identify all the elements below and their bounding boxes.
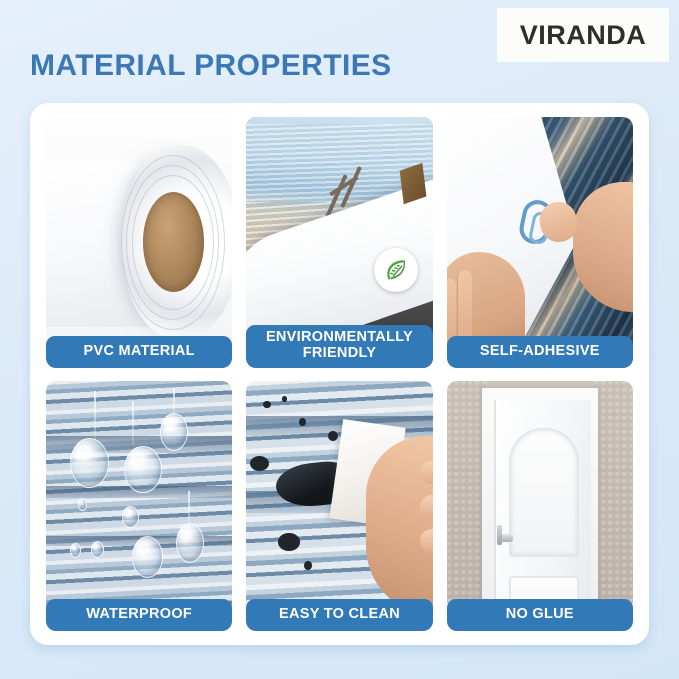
- knuckle: [420, 529, 432, 552]
- water-droplet: [78, 498, 87, 511]
- feature-label-waterproof: WATERPROOF: [46, 599, 232, 631]
- feature-label-line-1: ENVIRONMENTALLY: [250, 330, 428, 346]
- droplet-trail-2: [132, 401, 134, 446]
- water-droplet: [91, 541, 104, 559]
- self-adhesive-image: [447, 117, 633, 368]
- knuckle: [420, 495, 432, 518]
- white-door: [494, 400, 591, 631]
- water-droplet: [124, 446, 161, 494]
- door-frame: [482, 388, 598, 631]
- feature-label-pvc-material: PVC MATERIAL: [46, 336, 232, 368]
- stain-dot: [304, 561, 311, 570]
- water-droplet: [70, 543, 81, 558]
- wall-left: [447, 381, 486, 632]
- water-droplet: [176, 523, 204, 563]
- wall-right: [594, 381, 633, 632]
- waterproof-image: [46, 381, 232, 632]
- brand-logo-box: VIRANDA: [497, 8, 669, 62]
- stain-dot: [299, 418, 306, 426]
- feature-card-pvc-material[interactable]: PVC MATERIAL: [46, 117, 232, 368]
- hand-holding-cloth: [366, 436, 433, 616]
- feature-card-easy-to-clean[interactable]: EASY TO CLEAN: [246, 381, 432, 632]
- door-handle: [498, 534, 512, 542]
- feature-card-no-glue[interactable]: NO GLUE: [447, 381, 633, 632]
- feature-label-easy-to-clean: EASY TO CLEAN: [246, 599, 432, 631]
- feature-card-waterproof[interactable]: WATERPROOF: [46, 381, 232, 632]
- stain-dot: [250, 456, 269, 471]
- features-grid: PVC MATERIAL: [46, 117, 633, 631]
- water-droplet: [70, 438, 109, 488]
- water-droplet: [122, 506, 139, 529]
- brand-logo-text: VIRANDA: [520, 20, 647, 51]
- leaf-icon: [374, 248, 418, 292]
- pvc-cardboard-core: [143, 192, 204, 292]
- door-panel-top: [509, 428, 579, 557]
- water-droplet: [160, 413, 188, 451]
- page-title: MATERIAL PROPERTIES: [30, 49, 392, 83]
- water-droplet: [132, 536, 164, 579]
- feature-label-environmentally-friendly: ENVIRONMENTALLY FRIENDLY: [246, 325, 432, 367]
- feature-card-environmentally-friendly[interactable]: ENVIRONMENTALLY FRIENDLY: [246, 117, 432, 368]
- feature-label-no-glue: NO GLUE: [447, 599, 633, 631]
- features-panel: PVC MATERIAL: [30, 103, 649, 645]
- stain-dot: [263, 401, 270, 409]
- feature-card-self-adhesive[interactable]: SELF-ADHESIVE: [447, 117, 633, 368]
- stain-dot: [282, 396, 288, 402]
- stain-dot: [278, 533, 300, 551]
- feature-label-self-adhesive: SELF-ADHESIVE: [447, 336, 633, 368]
- knuckle: [420, 461, 432, 484]
- easy-to-clean-image: [246, 381, 432, 632]
- pvc-roll-image: [46, 117, 232, 368]
- feature-label-line-2: FRIENDLY: [250, 346, 428, 362]
- droplet-trail-1: [94, 391, 96, 446]
- stain-dot: [328, 431, 337, 441]
- no-glue-image: [447, 381, 633, 632]
